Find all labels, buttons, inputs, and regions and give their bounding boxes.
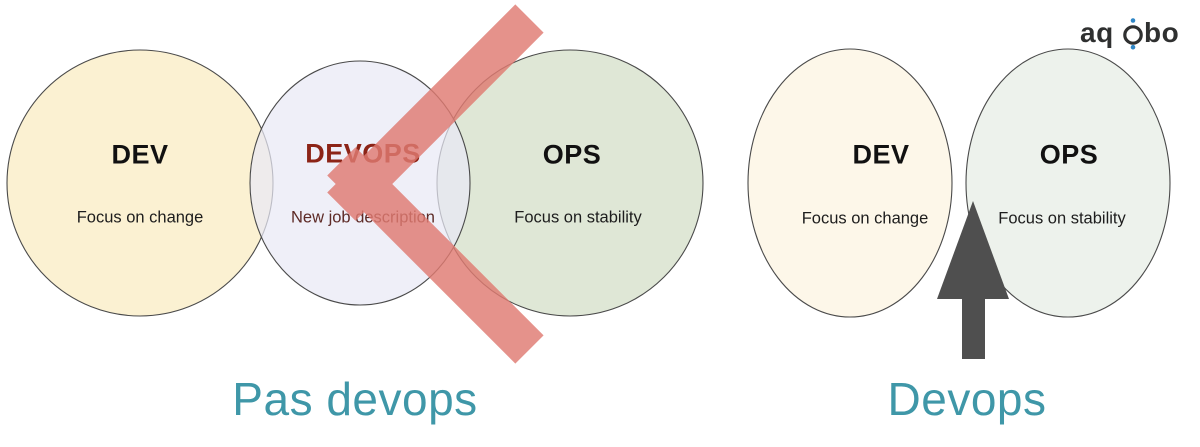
- left-devops-heading: DEVOPS: [305, 139, 421, 170]
- left-circle-ops: [437, 50, 703, 316]
- right-ops-subtitle: Focus on stability: [998, 210, 1125, 229]
- diagram-canvas: aq bo DEV Focus on change DEVOPS New job…: [0, 0, 1200, 447]
- left-dev-subtitle: Focus on change: [77, 209, 204, 228]
- logo-wordmark-icon: aq bo: [1078, 14, 1188, 50]
- left-ops-heading: OPS: [543, 140, 602, 171]
- right-caption: Devops: [888, 372, 1047, 426]
- cross-out-icon: [327, 4, 543, 363]
- right-venn-group: [748, 49, 1170, 317]
- left-dev-heading: DEV: [111, 140, 168, 171]
- aqobo-logo: aq bo: [1078, 14, 1188, 50]
- right-dev-heading: DEV: [852, 140, 909, 171]
- left-devops-subtitle: New job description: [291, 209, 435, 228]
- right-circle-dev: [748, 49, 952, 317]
- right-circle-ops: [966, 49, 1170, 317]
- left-venn-group: [7, 50, 703, 316]
- svg-text:bo: bo: [1144, 17, 1179, 48]
- left-circle-dev: [7, 50, 273, 316]
- svg-text:aq: aq: [1080, 17, 1114, 48]
- left-caption: Pas devops: [232, 372, 477, 426]
- right-dev-subtitle: Focus on change: [802, 210, 929, 229]
- left-ops-subtitle: Focus on stability: [514, 209, 641, 228]
- left-circle-devops: [250, 61, 470, 305]
- right-ops-heading: OPS: [1040, 140, 1099, 171]
